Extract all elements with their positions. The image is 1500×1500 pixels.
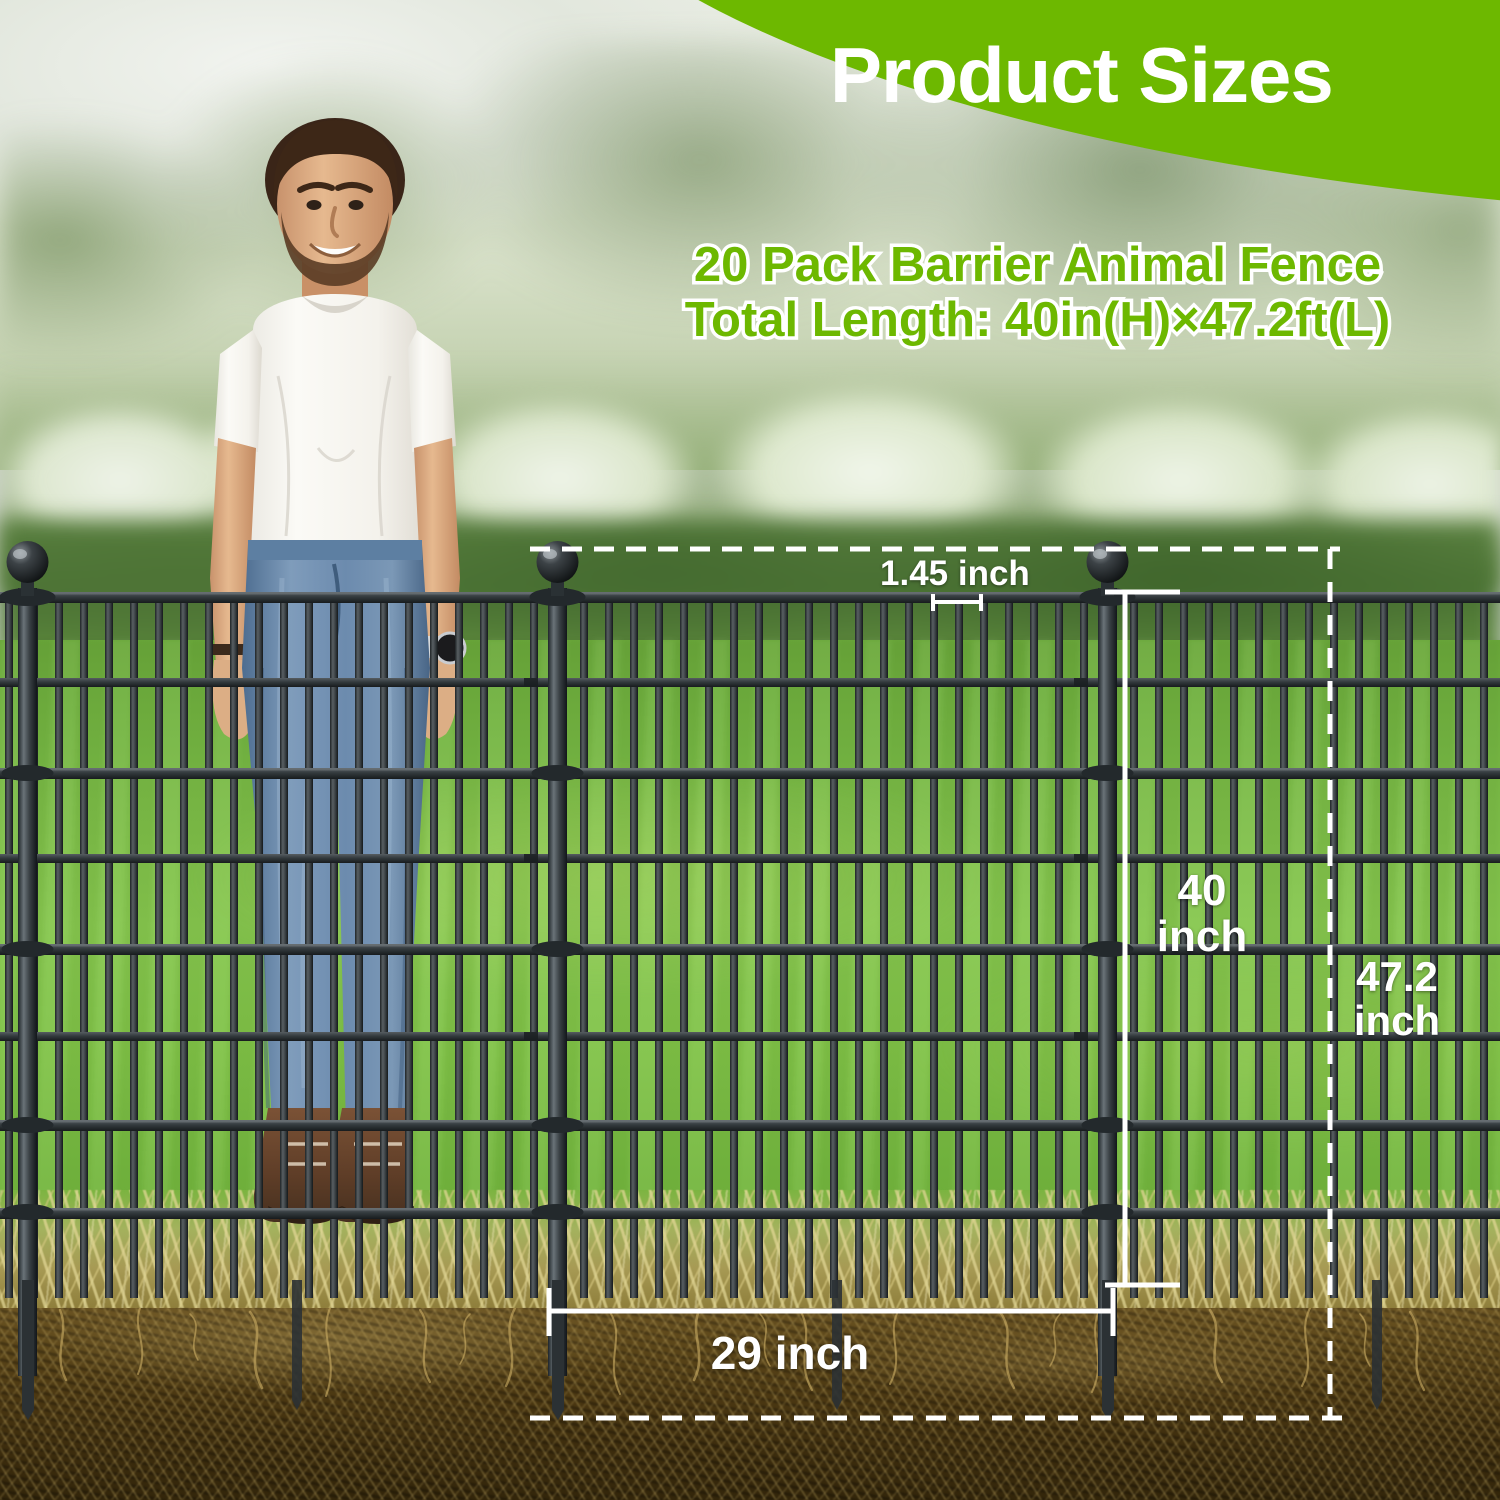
product-subtitle: 20 Pack Barrier Animal Fence Total Lengt… — [575, 238, 1500, 348]
barrier-fence-panels — [0, 540, 1500, 1440]
ground-stakes — [22, 1280, 1382, 1420]
post-finial — [7, 541, 1129, 596]
page-title: Product Sizes — [830, 36, 1500, 114]
subtitle-line-length: Total Length: 40in(H)×47.2ft(L) — [575, 293, 1500, 348]
product-size-infographic: 1.45 inch 40 inch 47.2 inch 29 inch Prod… — [0, 0, 1500, 1500]
subtitle-line-pack: 20 Pack Barrier Animal Fence — [575, 238, 1500, 293]
